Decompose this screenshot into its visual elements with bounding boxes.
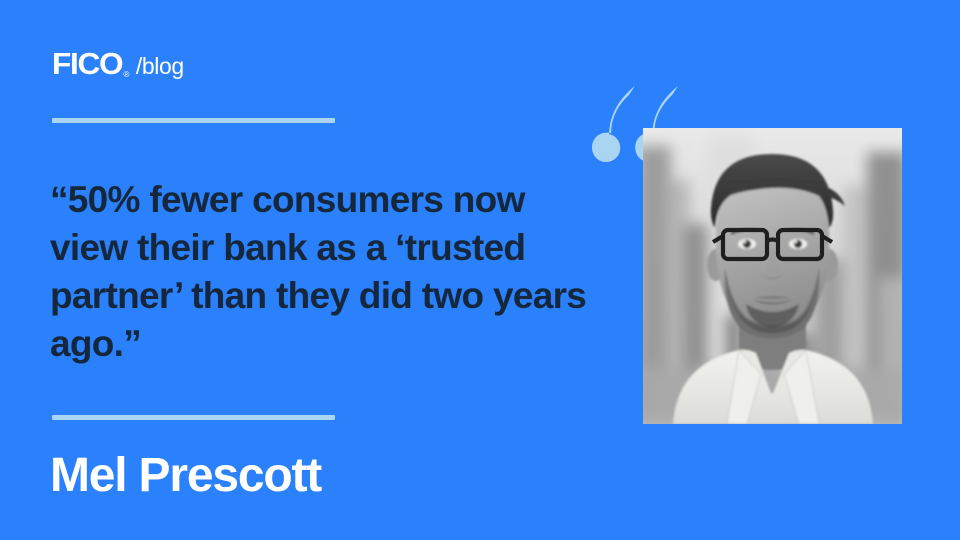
speaker-portrait xyxy=(643,128,902,424)
blog-subbrand-label: /blog xyxy=(136,55,184,78)
fico-wordmark-text: FICO xyxy=(52,46,122,81)
divider-top xyxy=(52,118,335,123)
divider-bottom xyxy=(52,415,335,420)
fico-wordmark: FICO ® xyxy=(52,48,122,79)
speaker-name: Mel Prescott xyxy=(50,452,321,500)
quote-card: FICO ® /blog xyxy=(0,0,960,540)
fico-blog-logo[interactable]: FICO ® /blog xyxy=(52,48,184,79)
quote-text: “50% fewer consumers now view their bank… xyxy=(50,176,610,368)
registered-trademark-icon: ® xyxy=(123,71,129,79)
